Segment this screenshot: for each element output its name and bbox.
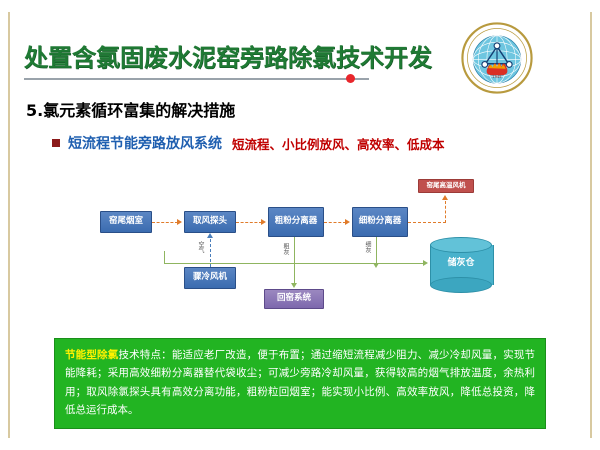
flow-fine-ash-down bbox=[376, 237, 377, 265]
slide-canvas: 1945 处置含氯固废水泥窑旁路除氯技术开发 5.氯元素循环富集的解决措施 短流… bbox=[0, 0, 600, 450]
node-fine-powder-separator[interactable]: 细粉分离器 bbox=[352, 207, 408, 237]
bullet-sub-label: 短流程、小比例放风、高效率、低成本 bbox=[232, 134, 445, 153]
note-keyword: 节能型除氯 bbox=[65, 349, 118, 361]
logo-year: 1945 bbox=[492, 75, 501, 79]
node-air-intake-probe[interactable]: 取风探头 bbox=[184, 211, 236, 233]
slide-frame-left-rule bbox=[8, 12, 10, 438]
flow-probe-to-coarse bbox=[236, 222, 262, 223]
flow-label-fine-ash: 细灰 bbox=[364, 241, 370, 253]
node-kiln-return-system[interactable]: 回窑系统 bbox=[264, 289, 324, 309]
title-accent-dot bbox=[346, 74, 355, 83]
flow-coarse-to-fine bbox=[324, 222, 346, 223]
flow-fine-to-fan-vertical bbox=[445, 201, 446, 223]
title-underline bbox=[24, 78, 369, 80]
arrow-ash-into-silo bbox=[423, 260, 428, 266]
process-flow-diagram: 窑尾烟室 取风探头 粗粉分离器 细粉分离器 骤冷风机 回窑系统 窑尾高温风机 储… bbox=[100, 175, 520, 325]
arrow-probe-to-coarse bbox=[261, 219, 266, 225]
arrow-to-high-temp-fan bbox=[442, 195, 448, 200]
arrow-coarse-ash-to-kiln-return bbox=[291, 283, 297, 288]
node-coarse-powder-separator[interactable]: 粗粉分离器 bbox=[268, 207, 324, 237]
page-title: 处置含氯固废水泥窑旁路除氯技术开发 bbox=[24, 38, 454, 73]
arrow-air-to-probe bbox=[207, 233, 213, 238]
arrow-smokechamber-to-probe bbox=[177, 219, 182, 225]
flow-ash-bus-to-silo bbox=[164, 263, 424, 264]
section-heading: 5.氯元素循环富集的解决措施 bbox=[26, 97, 235, 121]
node-quench-fan[interactable]: 骤冷风机 bbox=[184, 267, 236, 289]
slide-frame-right-rule bbox=[590, 12, 592, 438]
bullet-row: 短流程节能旁路放风系统 短流程、小比例放风、高效率、低成本 bbox=[52, 133, 445, 153]
flow-label-air: 空气 bbox=[197, 241, 203, 253]
flow-fine-to-fan-horizontal bbox=[408, 222, 446, 223]
note-body: 技术特点：能适应老厂改造，便于布置；通过缩短流程减少阻力、减少冷却风量，实现节能… bbox=[65, 349, 535, 416]
node-kiln-tail-high-temp-fan[interactable]: 窑尾高温风机 bbox=[418, 179, 474, 193]
bullet-square-icon bbox=[52, 139, 60, 147]
flow-smokechamber-to-probe bbox=[152, 222, 178, 223]
silo-top-ellipse bbox=[430, 237, 492, 253]
chinese-ceramic-society-logo: 1945 bbox=[461, 22, 533, 94]
page-title-text: 处置含氯固废水泥窑旁路除氯技术开发 bbox=[24, 38, 454, 73]
node-kiln-tail-smoke-chamber[interactable]: 窑尾烟室 bbox=[100, 211, 152, 233]
silo-bottom-ellipse bbox=[430, 277, 492, 293]
flow-label-coarse-ash: 粗灰 bbox=[282, 243, 288, 255]
arrow-coarse-to-fine bbox=[345, 219, 350, 225]
bullet-main-label: 短流程节能旁路放风系统 bbox=[68, 133, 222, 153]
flow-coarse-ash-down bbox=[294, 237, 295, 283]
silo-label: 储灰仓 bbox=[430, 255, 492, 268]
flow-ash-bus-riser bbox=[164, 251, 165, 264]
technical-note-box: 节能型除氯技术特点：能适应老厂改造，便于布置；通过缩短流程减少阻力、减少冷却风量… bbox=[54, 338, 546, 429]
node-ash-storage-silo[interactable]: 储灰仓 bbox=[430, 237, 492, 293]
